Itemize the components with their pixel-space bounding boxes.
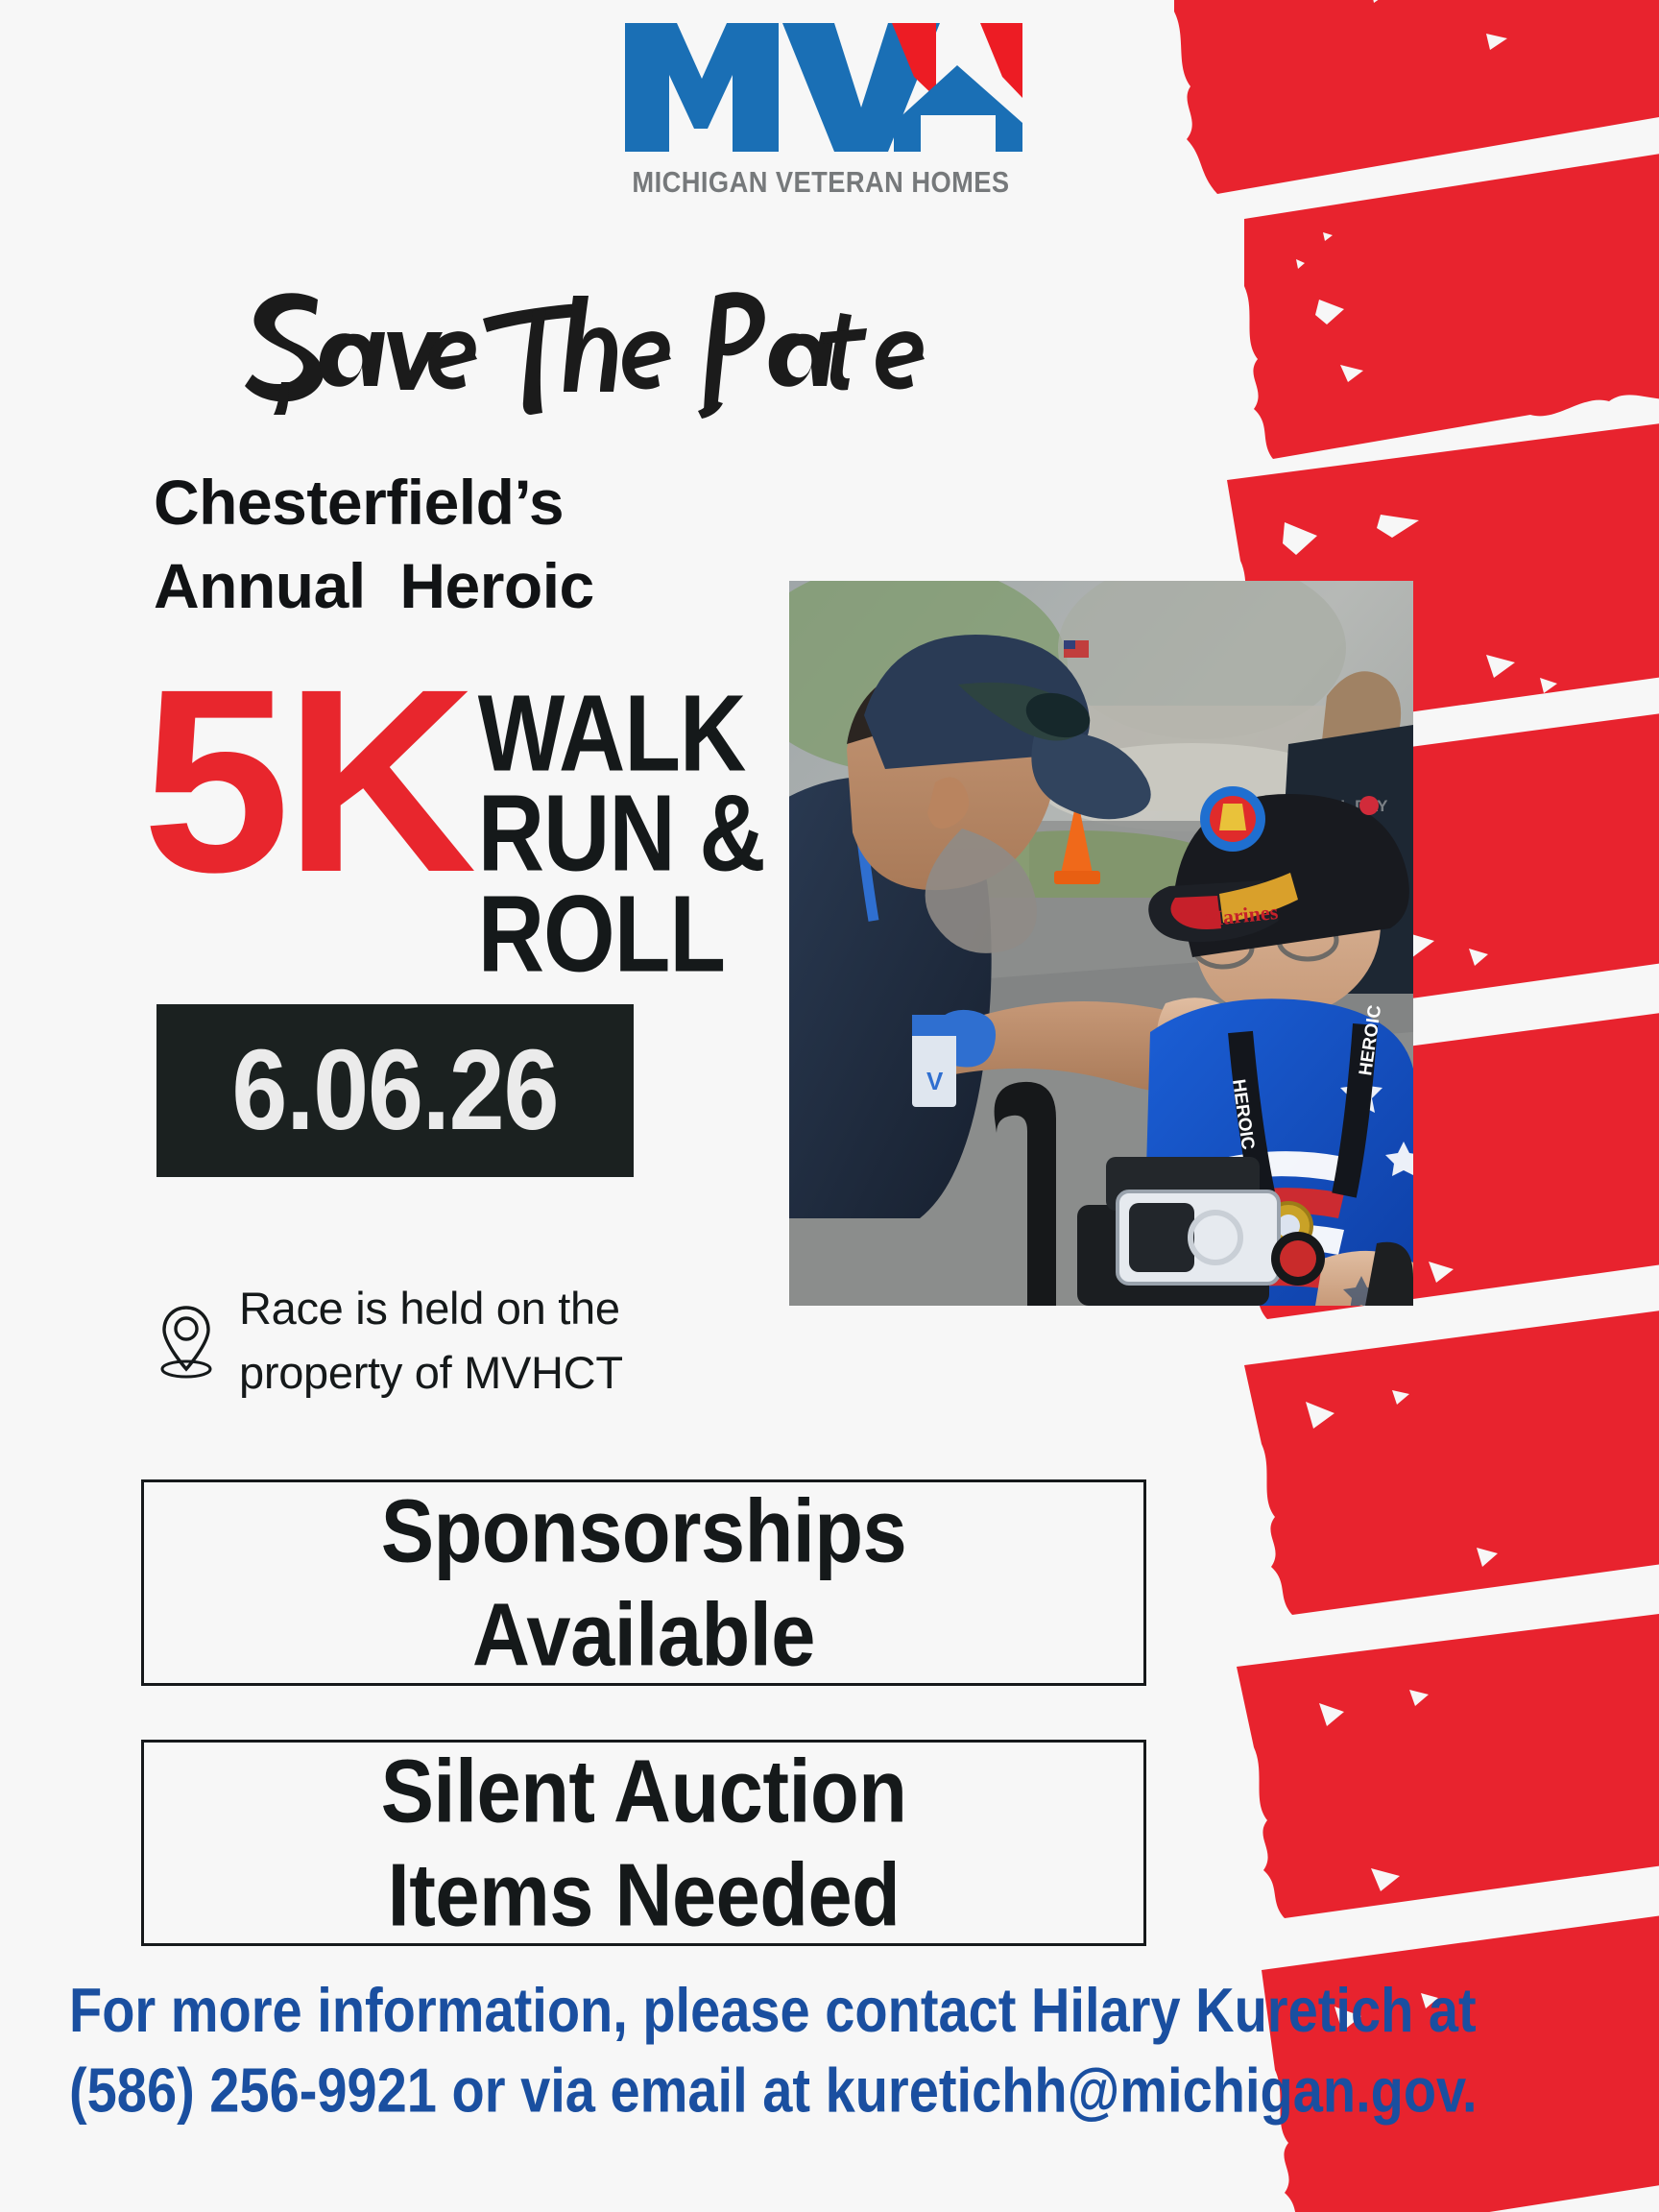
event-photo: RIAL DAY RPH , 2024: [789, 581, 1413, 1306]
mvh-letters-icon: [619, 15, 1022, 159]
location-line-2: property of MVHCT: [239, 1341, 623, 1406]
page-title: Chesterfield’s Annual Heroic: [154, 461, 594, 628]
race-modes: WALK RUN & ROLL: [478, 685, 765, 985]
location-line-1: Race is held on the: [239, 1277, 623, 1341]
race-mode-walk: WALK: [478, 685, 765, 784]
location-block: Race is held on the property of MVHCT: [158, 1277, 623, 1405]
sponsorships-callout: Sponsorships Available: [141, 1479, 1146, 1686]
race-title-block: 5K WALK RUN & ROLL: [142, 677, 765, 939]
event-date-badge: 6.06.26: [156, 1004, 634, 1177]
silent-auction-line-1: Silent Auction: [381, 1733, 907, 1849]
location-text: Race is held on the property of MVHCT: [239, 1277, 623, 1405]
contact-line-2: (586) 256-9921 or via email at kuretichh…: [69, 2050, 1432, 2129]
silent-auction-line-2: Items Needed: [388, 1837, 901, 1953]
race-mode-run: RUN &: [478, 784, 765, 884]
flyer-page: MICHIGAN VETERAN HOMES: [0, 0, 1659, 2212]
race-distance: 5K: [142, 677, 470, 886]
map-pin-icon: [158, 1302, 214, 1381]
save-the-date-lettering-icon: [235, 278, 946, 422]
event-date: 6.06.26: [232, 1025, 559, 1156]
silent-auction-callout: Silent Auction Items Needed: [141, 1740, 1146, 1946]
mvh-logo: MICHIGAN VETERAN HOMES: [562, 6, 1080, 200]
contact-line-1: For more information, please contact Hil…: [69, 1970, 1432, 2050]
mvh-logo-mark: [562, 6, 1080, 159]
sponsorships-line-2: Available: [472, 1576, 815, 1693]
sponsorships-line-1: Sponsorships: [381, 1473, 906, 1589]
save-the-date-script: [0, 278, 1181, 427]
headline-line-1: Chesterfield’s: [154, 461, 594, 544]
contact-footer: For more information, please contact Hil…: [69, 1970, 1432, 2129]
svg-text:V: V: [926, 1067, 944, 1095]
headline-line-2: Annual Heroic: [154, 544, 594, 628]
race-mode-roll: ROLL: [478, 884, 765, 984]
logo-subtitle: MICHIGAN VETERAN HOMES: [592, 165, 1048, 200]
